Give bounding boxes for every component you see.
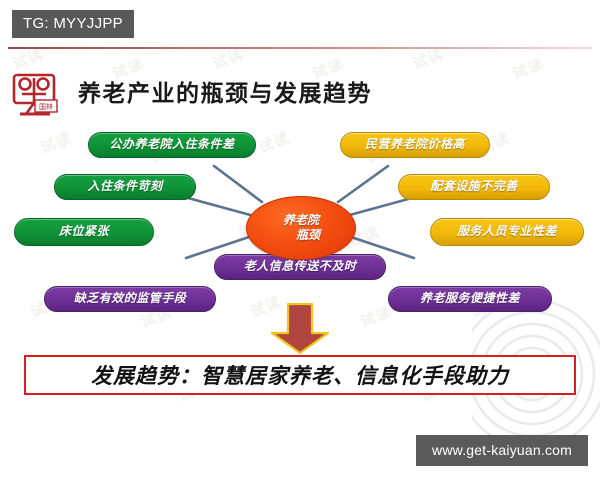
chinese-knot-logo-icon: 国林 [8, 70, 62, 120]
issue-node-private-home-price[interactable]: 民营养老院价格高 [340, 132, 490, 158]
footer-url: www.get-kaiyuan.com [416, 435, 588, 466]
issue-node-label: 入住条件苛刻 [87, 180, 162, 193]
svg-text:国林: 国林 [39, 102, 53, 111]
issue-node-strict-conditions[interactable]: 入住条件苛刻 [54, 174, 196, 200]
conclusion-banner-text: 发展趋势：智慧居家养老、信息化手段助力 [91, 360, 509, 390]
issue-node-label: 民营养老院价格高 [365, 138, 465, 151]
page-title: 养老产业的瓶颈与发展趋势 [78, 74, 372, 108]
title-underline [8, 47, 592, 49]
slide-canvas: 试读 试读 试读 试读 试读 试读 试读 试读 试读 试读 试读 试读 试读 试… [0, 0, 600, 480]
issue-node-label: 缺乏有效的监管手段 [74, 292, 187, 305]
issue-node-label: 养老服务便捷性差 [420, 292, 520, 305]
issue-node-service-convenience[interactable]: 养老服务便捷性差 [388, 286, 552, 312]
issue-node-lack-supervision[interactable]: 缺乏有效的监管手段 [44, 286, 216, 312]
issue-node-facilities-incomplete[interactable]: 配套设施不完善 [398, 174, 550, 200]
issue-node-label: 服务人员专业性差 [457, 225, 557, 238]
slide-header: 国林 养老产业的瓶颈与发展趋势 [0, 70, 600, 118]
issue-node-label: 公办养老院入住条件差 [109, 138, 234, 151]
center-node-line1: 养老院 [282, 213, 320, 228]
issue-node-label: 床位紧张 [59, 225, 109, 238]
issue-node-staff-professionalism[interactable]: 服务人员专业性差 [430, 218, 584, 246]
center-node-line2: 瓶颈 [282, 228, 320, 243]
issue-node-label: 配套设施不完善 [430, 180, 518, 193]
tg-tag: TG: MYYJJPP [12, 10, 134, 38]
center-node-bottleneck[interactable]: 养老院 瓶颈 [246, 196, 356, 260]
down-arrow-container [268, 303, 332, 355]
issue-node-label: 老人信息传送不及时 [244, 260, 357, 273]
issue-node-public-home-admission[interactable]: 公办养老院入住条件差 [88, 132, 256, 158]
conclusion-banner: 发展趋势：智慧居家养老、信息化手段助力 [24, 355, 576, 395]
issue-node-bed-shortage[interactable]: 床位紧张 [14, 218, 154, 246]
down-arrow-icon [268, 303, 332, 355]
